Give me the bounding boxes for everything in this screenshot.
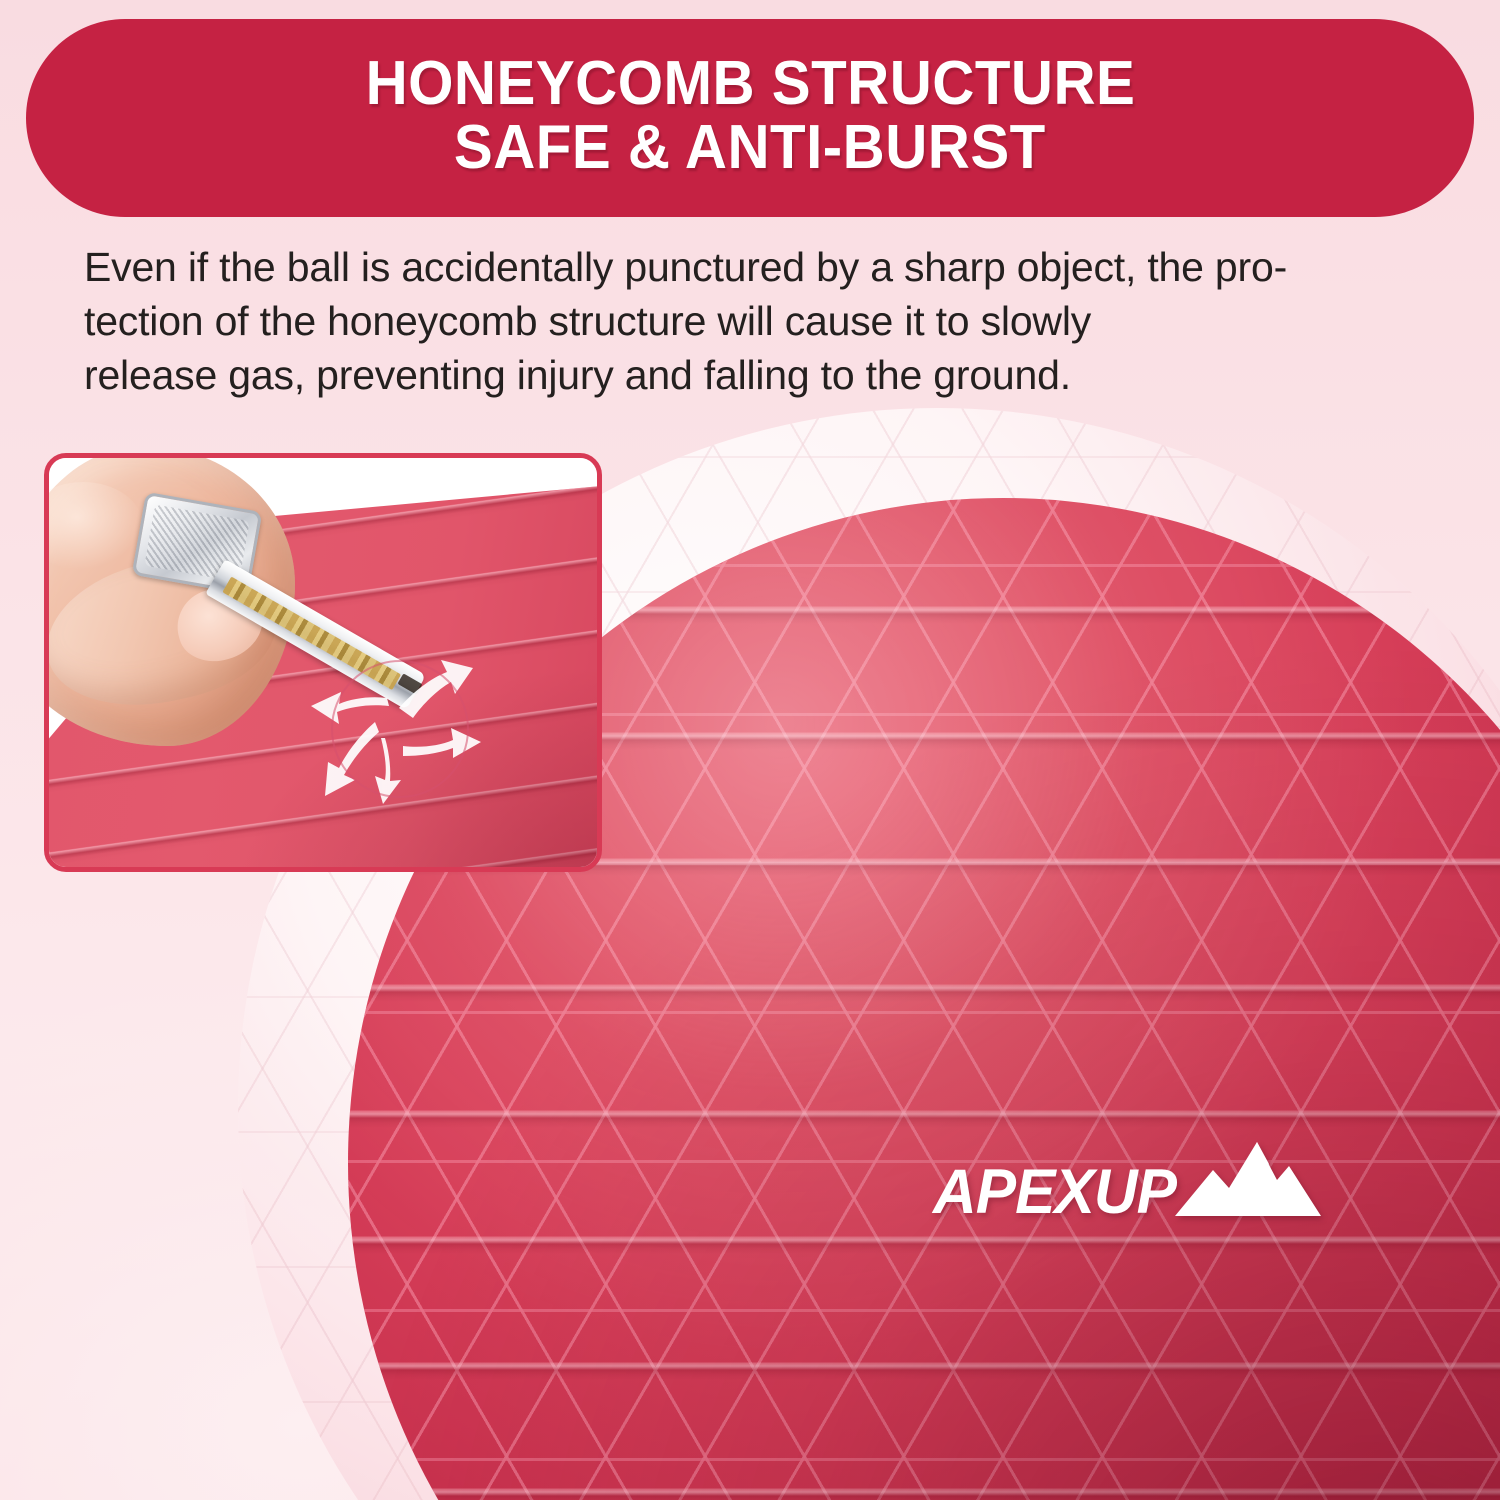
description-line-2: tection of the honeycomb structure will … xyxy=(84,294,1424,348)
gas-release-circle xyxy=(331,660,469,798)
description-paragraph: Even if the ball is accidentally punctur… xyxy=(84,240,1424,402)
gas-release-arrows xyxy=(295,634,515,839)
description-line-3: release gas, preventing injury and falli… xyxy=(84,348,1424,402)
puncture-demo-inset xyxy=(44,453,602,872)
mountain-peaks-icon xyxy=(1173,1140,1323,1223)
inset-photo xyxy=(49,458,597,867)
headline-banner: HONEYCOMB STRUCTURE SAFE & ANTI-BURST xyxy=(26,19,1474,217)
description-line-1: Even if the ball is accidentally punctur… xyxy=(84,240,1424,294)
headline-line-1: HONEYCOMB STRUCTURE xyxy=(365,52,1135,116)
product-feature-card: APEXUP HONEYCOMB STRUCTURE SAFE & ANTI-B… xyxy=(0,0,1500,1500)
apexup-wordmark: APEXUP xyxy=(933,1161,1176,1224)
headline-line-2: SAFE & ANTI-BURST xyxy=(454,116,1046,180)
apexup-logo: APEXUP xyxy=(928,1140,1323,1224)
